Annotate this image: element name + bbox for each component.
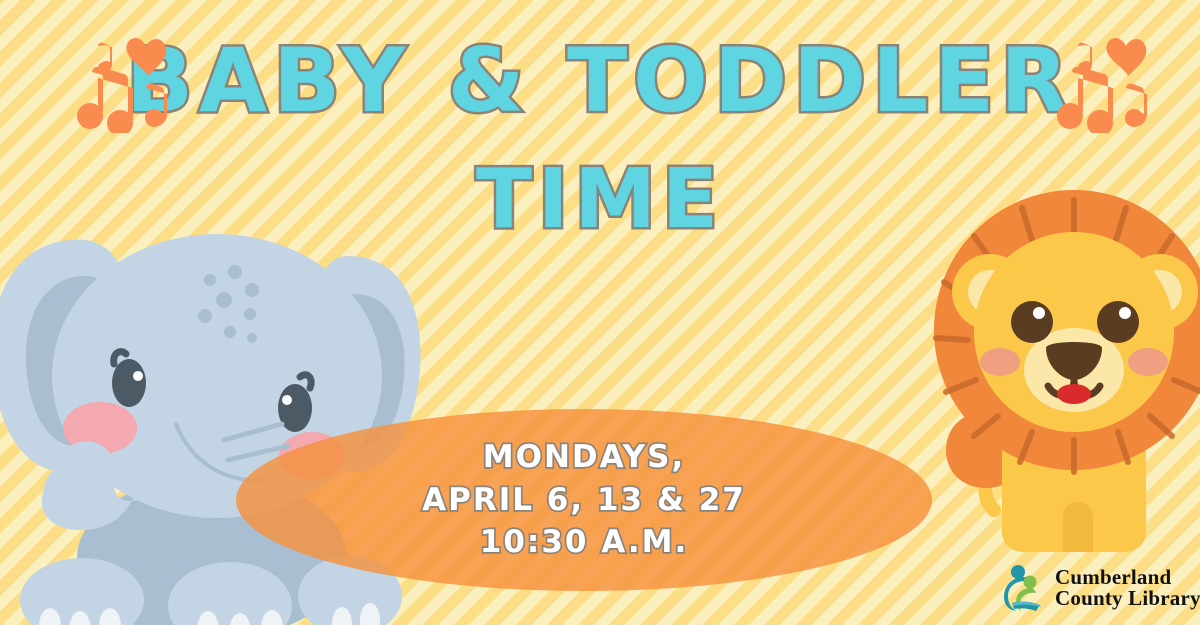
event-details: Mondays, April 6, 13 & 27 10:30 a.m. [236, 409, 932, 591]
event-line-time: 10:30 a.m. [480, 524, 688, 561]
event-line-dates: April 6, 13 & 27 [422, 482, 746, 519]
cumberland-county-library-mark-icon [1000, 563, 1048, 613]
library-logo: Cumberland County Library [1000, 563, 1200, 613]
library-logo-text: Cumberland County Library [1055, 567, 1200, 610]
event-line-day: Mondays, [483, 439, 685, 476]
logo-line-2: County Library [1055, 588, 1200, 609]
baby-lion-illustration [928, 180, 1200, 555]
poster-canvas: Baby & Toddler Time [0, 0, 1200, 625]
logo-line-1: Cumberland [1055, 567, 1200, 588]
music-notes-heart-icon-right [1038, 28, 1158, 133]
music-notes-heart-icon-left [58, 28, 178, 133]
